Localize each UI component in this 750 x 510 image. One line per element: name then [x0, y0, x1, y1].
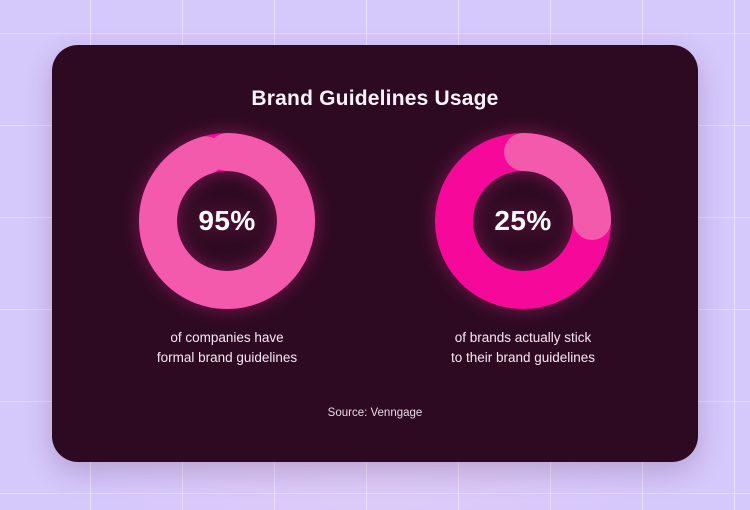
- donut-chart-brands: 25% of brands actually stick to their br…: [413, 133, 633, 369]
- page-title: Brand Guidelines Usage: [52, 87, 698, 111]
- source-note: Source: Venngage: [52, 407, 698, 419]
- donut-value-label-1: 95%: [139, 133, 315, 309]
- infographic-card: Brand Guidelines Usage 95% of companies …: [52, 45, 698, 462]
- infographic-canvas: Brand Guidelines Usage 95% of companies …: [0, 0, 750, 510]
- donut-graphic-1: 95%: [139, 133, 315, 309]
- donut-caption-1: of companies have formal brand guideline…: [157, 328, 297, 369]
- donut-graphic-2: 25%: [435, 133, 611, 309]
- donut-value-label-2: 25%: [435, 133, 611, 309]
- donut-caption-2: of brands actually stick to their brand …: [451, 328, 595, 369]
- donut-chart-companies: 95% of companies have formal brand guide…: [117, 133, 337, 369]
- donut-charts-row: 95% of companies have formal brand guide…: [52, 133, 698, 369]
